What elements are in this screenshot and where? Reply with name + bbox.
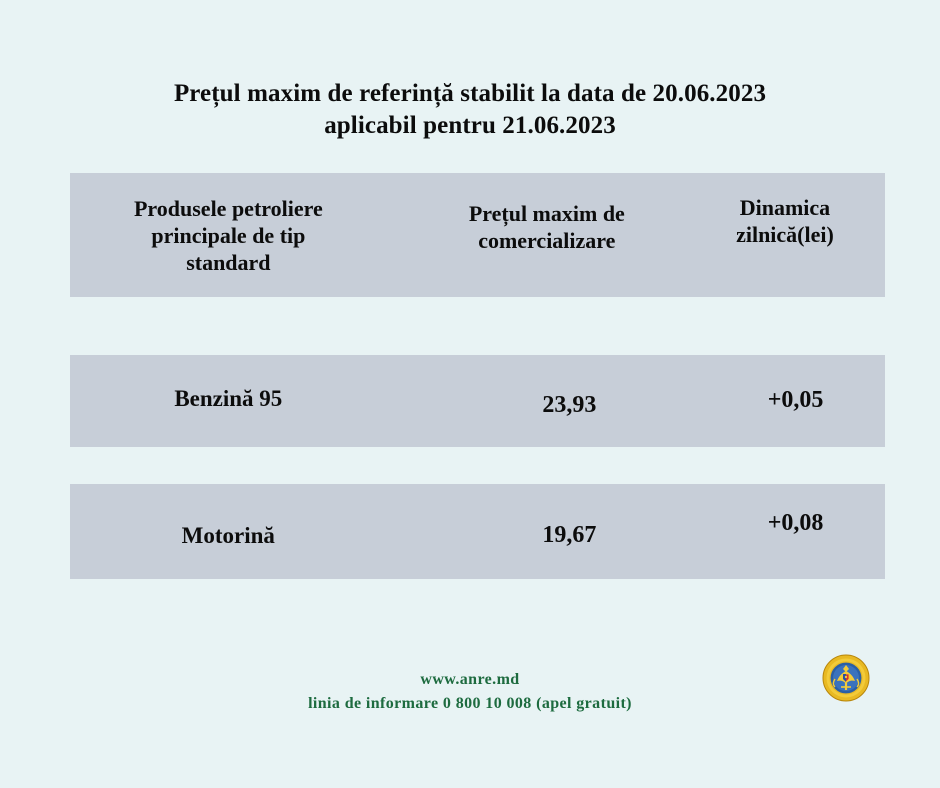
footer-info-line: linia de informare 0 800 10 008 (apel gr…	[0, 692, 940, 716]
anre-moldova-emblem-icon	[822, 654, 870, 702]
footer: www.anre.md linia de informare 0 800 10 …	[0, 668, 940, 716]
table-row: Motorină 19,67 +0,08	[70, 484, 885, 579]
column-header-product: Produsele petroliere principale de tip s…	[70, 195, 409, 276]
cell-daily-dynamic: +0,08	[694, 510, 885, 537]
column-header-product-line-1: Produsele petroliere	[134, 196, 323, 221]
table-row: Benzină 95 23,93 +0,05	[70, 355, 885, 447]
footer-website[interactable]: www.anre.md	[0, 668, 940, 692]
cell-max-price: 19,67	[431, 522, 695, 549]
column-header-price-line-2: comercializare	[478, 228, 615, 253]
column-header-price: Prețul maxim de comercializare	[409, 200, 685, 270]
page-title-line-1: Prețul maxim de referință stabilit la da…	[0, 78, 940, 110]
cell-product-name: Motorină	[70, 523, 431, 549]
infographic-page: Prețul maxim de referință stabilit la da…	[0, 0, 940, 788]
cell-product-name: Benzină 95	[70, 386, 431, 412]
page-title: Prețul maxim de referință stabilit la da…	[0, 78, 940, 142]
column-header-price-line-1: Prețul maxim de	[469, 201, 625, 226]
page-title-line-2: aplicabil pentru 21.06.2023	[0, 110, 940, 142]
column-header-dynamic-line-1: Dinamica	[740, 195, 830, 220]
column-header-product-line-2: principale de tip	[151, 223, 305, 248]
column-header-dynamic: Dinamica zilnică(lei)	[685, 194, 885, 276]
column-header-product-line-3: standard	[186, 250, 270, 275]
cell-max-price: 23,93	[431, 392, 695, 419]
column-header-dynamic-line-2: zilnică(lei)	[736, 222, 834, 247]
table-header-row: Produsele petroliere principale de tip s…	[70, 173, 885, 297]
cell-daily-dynamic: +0,05	[694, 387, 885, 414]
